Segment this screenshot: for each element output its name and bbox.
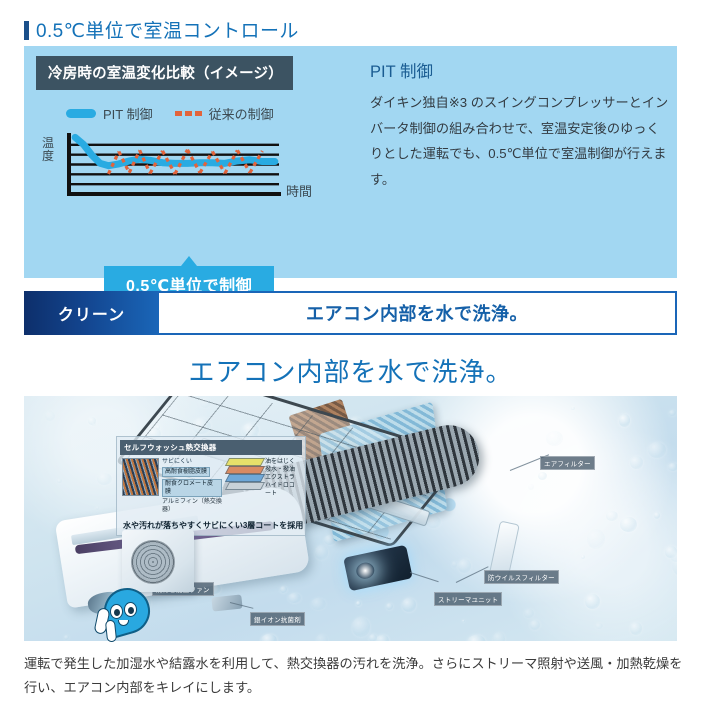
hydro-coat-line-2: エクストラ: [265, 474, 300, 482]
aluminium-fin-photo: [122, 458, 159, 496]
clean-big-heading: エアコン内部を水で洗浄。: [0, 352, 701, 389]
legend-swatch-pit: [66, 109, 96, 118]
outdoor-unit: [122, 530, 194, 592]
self-wash-card-body: サビにくい 高耐食樹脂皮膜 耐食クロメート皮膜 アルミフィン（熱交換器） 油をは…: [120, 455, 302, 518]
outdoor-unit-fan-grille: [131, 540, 175, 584]
label-air-filter: エアフィルター: [540, 456, 595, 470]
band-tag-clean: クリーン: [24, 291, 159, 335]
mascot-pichonkun: [88, 586, 152, 642]
title-accent-bar: [24, 21, 29, 40]
chart-svg: [66, 133, 281, 199]
self-wash-exchanger-card: セルフウォッシュ熱交換器 サビにくい 高耐食樹脂皮膜 耐食クロメート皮膜 アルミ…: [116, 436, 306, 536]
legend-label-conventional: 従来の制御: [209, 104, 274, 123]
self-wash-right-labels: 油をはじく 撥水・撥油 エクストラ ハイドロコート: [265, 458, 300, 498]
oil-repellent-caption: 油をはじく: [265, 458, 300, 466]
aluminium-fin-caption: アルミフィン（熱交換器）: [162, 498, 222, 514]
legend-label-pit: PIT 制御: [103, 104, 153, 123]
chart-plot-area: 温度 時間: [36, 133, 336, 207]
coating-chip-2: 耐食クロメート皮膜: [162, 479, 222, 497]
coating-chip-1: 高耐食樹脂皮膜: [162, 467, 210, 477]
chart-y-axis-label: 温度: [42, 137, 56, 162]
pit-control-title: PIT 制御: [370, 58, 670, 82]
label-antivirus-filter: 防ウイルスフィルター: [484, 570, 559, 584]
mascot-eye-left: [110, 604, 123, 619]
rust-resistant-caption: サビにくい: [162, 458, 222, 466]
temperature-control-panel: 冷房時の室温変化比較（イメージ） PIT 制御 従来の制御 温度 時間: [24, 46, 677, 278]
chart-legend: PIT 制御 従来の制御: [36, 104, 336, 123]
pit-control-block: PIT 制御 ダイキン独自※3 のスイングコンプレッサーとインバータ制御の組み合…: [370, 58, 670, 193]
page-title: 0.5℃単位で室温コントロール: [24, 16, 299, 43]
hydro-coat-line-3: ハイドロコート: [265, 482, 300, 498]
pit-control-body: ダイキン独自※3 のスイングコンプレッサーとインバータ制御の組み合わせで、室温安…: [370, 90, 670, 193]
chart-x-axis-label: 時間: [286, 181, 312, 200]
self-wash-left-labels: サビにくい 高耐食樹脂皮膜 耐食クロメート皮膜 アルミフィン（熱交換器）: [162, 458, 222, 515]
mascot-eye-right: [124, 602, 137, 617]
chart-card: 冷房時の室温変化比較（イメージ） PIT 制御 従来の制御 温度 時間: [36, 56, 336, 207]
label-silver-ion: 銀イオン抗菌剤: [250, 612, 305, 626]
chart-heading: 冷房時の室温変化比較（イメージ）: [36, 56, 293, 90]
callout-arrow-icon: [181, 256, 197, 266]
chart-series-pit: [75, 137, 275, 165]
band-headline: エアコン内部を水で洗浄。: [159, 291, 677, 335]
legend-swatch-conventional: [175, 111, 202, 116]
page-root: 0.5℃単位で室温コントロール 冷房時の室温変化比較（イメージ） PIT 制御 …: [0, 0, 701, 701]
hydro-coat-line-1: 撥水・撥油: [265, 466, 300, 474]
section-caption: 運転で発生した加湿水や結露水を利用して、熱交換器の汚れを洗浄。さらにストリーマ照…: [24, 652, 684, 701]
label-streamer-unit: ストリーマユニット: [434, 592, 502, 606]
page-title-text: 0.5℃単位で室温コントロール: [36, 21, 299, 42]
coating-layer-diagram: [227, 458, 262, 492]
clean-section-band: クリーン エアコン内部を水で洗浄。: [24, 291, 677, 335]
self-wash-card-heading: セルフウォッシュ熱交換器: [120, 440, 302, 455]
